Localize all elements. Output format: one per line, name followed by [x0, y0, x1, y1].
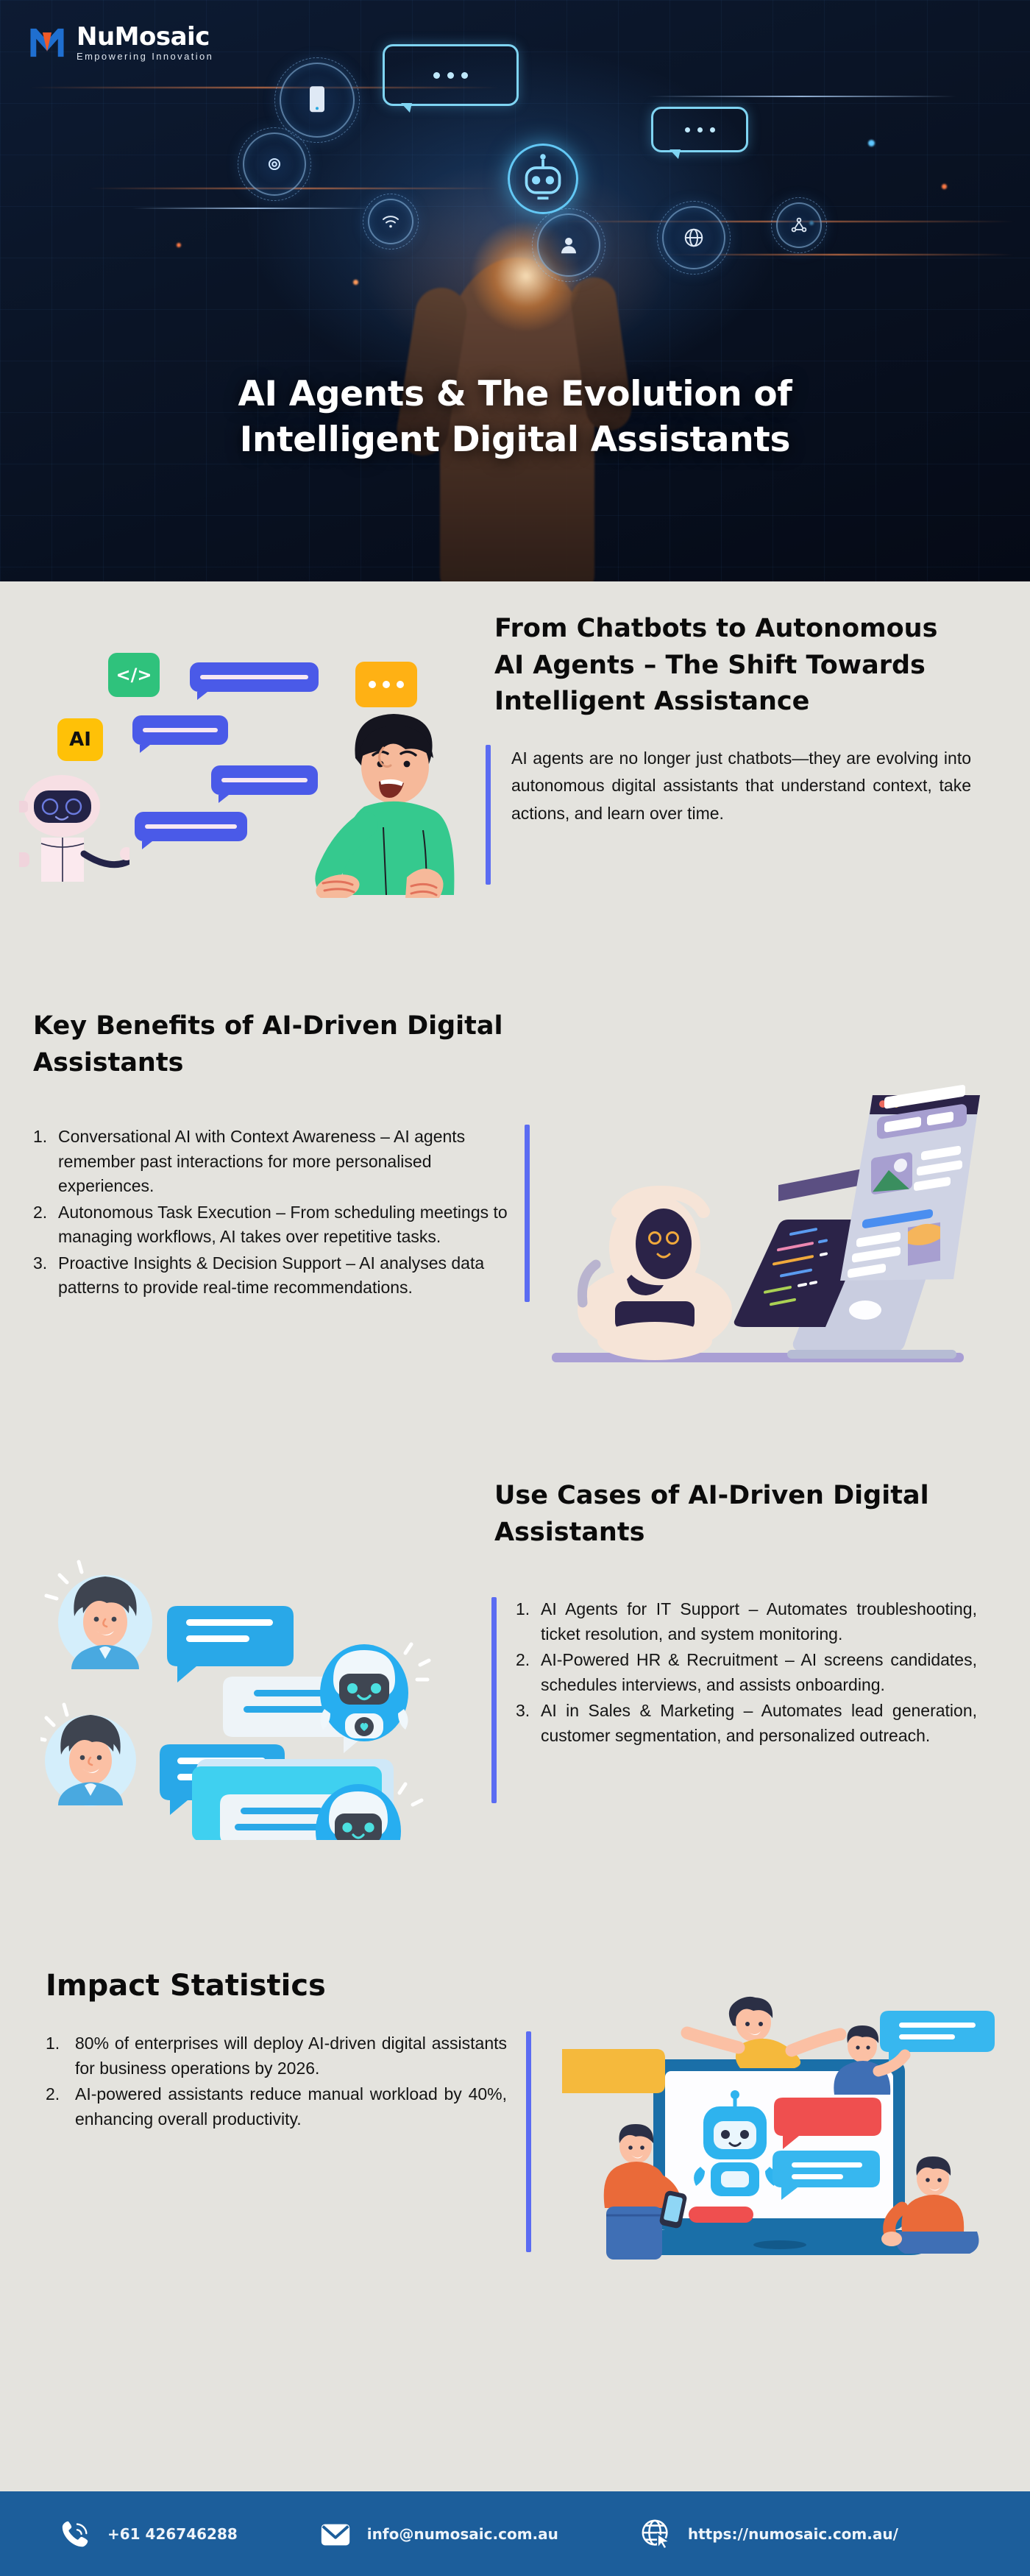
globe-icon [662, 206, 725, 269]
impact-list: 80% of enterprises will deploy AI-driven… [46, 2031, 507, 2252]
hero-banner: NuMosaic Empowering Innovation [0, 0, 1030, 581]
typing-badge-icon [355, 662, 417, 707]
section-paragraph-wrap: AI agents are no longer just chatbots—th… [486, 745, 971, 885]
section-from-chatbots: </> AI [0, 581, 1030, 994]
wifi-icon [368, 199, 413, 244]
bot-avatar-icon [320, 1644, 429, 1741]
smartphone-icon [280, 63, 355, 138]
ai-badge-label: AI [69, 729, 91, 751]
chatbot-conversation-illustration [40, 1546, 482, 1840]
list-item: Conversational AI with Context Awareness… [33, 1125, 508, 1199]
robot-laptop-svg [544, 1067, 986, 1376]
accent-bar [525, 1125, 530, 1302]
footer-email-text: info@numosaic.com.au [367, 2525, 558, 2543]
phone-icon [59, 2517, 93, 2551]
list-item: Proactive Insights & Decision Support – … [33, 1251, 508, 1301]
robot-with-laptop-illustration [544, 1067, 986, 1376]
network-icon [776, 202, 822, 248]
chat-bubble-icon [651, 107, 748, 152]
robot-and-man-chat-illustration: </> AI [29, 622, 456, 894]
section-list-wrap: AI Agents for IT Support – Automates tro… [491, 1597, 977, 1803]
footer-website[interactable]: https://numosaic.com.au/ [639, 2517, 898, 2551]
footer-email[interactable]: info@numosaic.com.au [319, 2517, 558, 2551]
list-item: AI-powered assistants reduce manual work… [46, 2082, 507, 2131]
team-laptop-svg [559, 1995, 1001, 2289]
section-heading: From Chatbots to Autonomous AI Agents – … [494, 611, 965, 721]
footer-phone[interactable]: +61 426746288 [59, 2517, 238, 2551]
code-badge-label: </> [116, 665, 152, 685]
list-item: Autonomous Task Execution – From schedul… [33, 1200, 508, 1250]
section-heading: Key Benefits of AI-Driven Digital Assist… [33, 1008, 504, 1081]
benefits-list: Conversational AI with Context Awareness… [33, 1125, 508, 1302]
section-key-benefits: Key Benefits of AI-Driven Digital Assist… [0, 994, 1030, 1465]
camera-icon [243, 132, 306, 196]
section-heading-wrap: Use Cases of AI-Driven Digital Assistant… [494, 1478, 965, 1551]
section-heading: Impact Statistics [46, 1965, 487, 2007]
robot-illustration [19, 773, 129, 894]
footer-website-text: https://numosaic.com.au/ [688, 2525, 898, 2543]
use-cases-list: AI Agents for IT Support – Automates tro… [516, 1597, 977, 1803]
footer-contact-bar: +61 426746288 info@numosaic.com.au https… [0, 2491, 1030, 2576]
page-title: AI Agents & The Evolution of Intelligent… [0, 372, 1030, 463]
section-paragraph: AI agents are no longer just chatbots—th… [511, 745, 971, 885]
person-illustration [687, 1997, 840, 2068]
section-heading-wrap: Impact Statistics [46, 1965, 487, 2007]
section-impact-statistics: Impact Statistics 80% of enterprises wil… [0, 1950, 1030, 2355]
list-item: AI-Powered HR & Recruitment – AI screens… [516, 1648, 977, 1697]
chat-bubble-icon [383, 44, 519, 106]
section-heading: Use Cases of AI-Driven Digital Assistant… [494, 1478, 965, 1551]
robot-face-icon [508, 144, 578, 214]
chat-bubble-icon [132, 715, 228, 745]
list-item: AI Agents for IT Support – Automates tro… [516, 1597, 977, 1646]
page-title-line2: Intelligent Digital Assistants [240, 420, 790, 460]
brand-tagline: Empowering Innovation [77, 52, 213, 61]
list-item: AI in Sales & Marketing – Automates lead… [516, 1699, 977, 1748]
team-with-laptop-chatbot-illustration [559, 1995, 1001, 2289]
avatar [40, 1705, 136, 1806]
ai-badge: AI [57, 718, 103, 761]
chat-bubble-icon [167, 1606, 294, 1682]
accent-bar [486, 745, 491, 885]
code-badge-icon: </> [108, 653, 160, 697]
list-item: 80% of enterprises will deploy AI-driven… [46, 2031, 507, 2081]
avatar [46, 1562, 152, 1669]
user-icon [537, 213, 600, 277]
brand-name: NuMosaic [77, 24, 213, 49]
page-title-line1: AI Agents & The Evolution of [238, 374, 792, 414]
footer-phone-text: +61 426746288 [107, 2525, 238, 2543]
section-list-wrap: Conversational AI with Context Awareness… [33, 1125, 530, 1302]
section-use-cases: Use Cases of AI-Driven Digital Assistant… [0, 1465, 1030, 1950]
section-heading-wrap: Key Benefits of AI-Driven Digital Assist… [33, 1008, 504, 1081]
accent-bar [526, 2031, 531, 2252]
section-list-wrap: 80% of enterprises will deploy AI-driven… [46, 2031, 531, 2252]
brand-logo[interactable]: NuMosaic Empowering Innovation [28, 24, 213, 62]
chat-conversation-svg [40, 1546, 482, 1840]
section-heading-wrap: From Chatbots to Autonomous AI Agents – … [494, 611, 965, 721]
chat-bubble-icon [190, 662, 319, 692]
person-illustration [313, 707, 482, 898]
chat-bubble-icon [211, 765, 318, 795]
mail-icon [319, 2517, 352, 2551]
accent-bar [491, 1597, 497, 1803]
chat-bubble-icon [562, 2049, 665, 2093]
chat-bubble-icon [135, 812, 247, 841]
numosaic-m-logo-icon [28, 24, 66, 62]
globe-cursor-icon [639, 2517, 673, 2551]
